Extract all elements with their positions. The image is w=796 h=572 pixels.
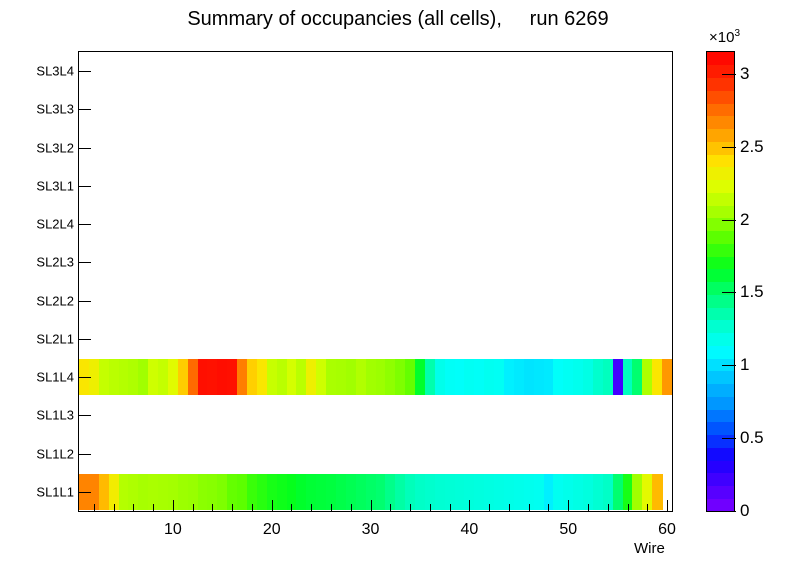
x-axis-tick-minor: [588, 504, 589, 511]
color-bar-tick-label: 0.5: [740, 428, 764, 448]
x-axis-tick-minor: [430, 504, 431, 511]
heatmap-cell: [514, 359, 524, 395]
x-axis-tick-major: [469, 500, 470, 511]
heatmap-cell: [366, 359, 376, 395]
x-axis-tick-minor: [450, 504, 451, 511]
heatmap-cell: [168, 359, 178, 395]
color-bar-segment: [707, 345, 734, 358]
color-bar-segment: [707, 435, 734, 448]
x-axis-tick-minor: [351, 504, 352, 511]
x-axis-tick-major: [272, 500, 273, 511]
color-bar-tick: [722, 438, 736, 439]
y-axis-tick: [78, 492, 91, 493]
x-axis-tick-label: 10: [164, 521, 182, 539]
heatmap-cell: [553, 474, 563, 510]
heatmap-cell: [217, 474, 227, 510]
color-bar-segment: [707, 320, 734, 333]
y-axis-tick: [78, 339, 91, 340]
color-bar-tick-label: 2.5: [740, 137, 764, 157]
color-bar-segment: [707, 486, 734, 499]
color-bar-tick-label: 1: [740, 355, 749, 375]
heatmap-cell: [484, 359, 494, 395]
heatmap-cell: [188, 359, 198, 395]
color-bar-segment: [707, 180, 734, 193]
color-bar-tick: [722, 292, 736, 293]
x-axis-tick-minor: [212, 504, 213, 511]
heatmap-cell: [336, 359, 346, 395]
color-bar-segment: [707, 409, 734, 422]
color-bar-exponent: ×103: [709, 28, 740, 46]
heatmap-cell: [316, 474, 326, 510]
x-axis-tick-minor: [628, 504, 629, 511]
x-axis-tick-minor: [489, 504, 490, 511]
x-axis-tick-major: [568, 500, 569, 511]
heatmap-cell: [573, 359, 583, 395]
x-axis-tick-minor: [153, 504, 154, 511]
color-bar-segment: [707, 78, 734, 91]
heatmap-cell: [128, 359, 138, 395]
color-bar-tick: [722, 74, 736, 75]
heatmap-cell: [514, 474, 524, 510]
color-bar-tick-label: 2: [740, 210, 749, 230]
color-bar-segment: [707, 269, 734, 282]
heatmap-cells: [79, 52, 672, 511]
color-bar-segment: [707, 473, 734, 486]
heatmap-cell: [632, 474, 642, 510]
color-bar-segment: [707, 460, 734, 473]
x-axis-tick-minor: [608, 504, 609, 511]
heatmap-cell: [356, 359, 366, 395]
color-bar-segment: [707, 231, 734, 244]
color-bar-segment: [707, 205, 734, 218]
color-bar-tick: [722, 511, 736, 512]
color-bar-segment: [707, 447, 734, 460]
color-bar-segment: [707, 52, 734, 65]
color-bar-tick: [722, 220, 736, 221]
x-axis-tick-minor: [509, 504, 510, 511]
y-axis-tick: [78, 148, 91, 149]
x-axis-tick-minor: [331, 504, 332, 511]
heatmap-cell: [534, 474, 544, 510]
color-bar-segment: [707, 256, 734, 269]
y-axis-tick: [78, 301, 91, 302]
heatmap-cell: [316, 359, 326, 395]
color-bar-segment: [707, 384, 734, 397]
color-bar-segment: [707, 65, 734, 78]
x-axis-tick-minor: [291, 504, 292, 511]
heatmap-cell: [207, 359, 217, 395]
x-axis-tick-major: [173, 500, 174, 511]
color-bar-segment: [707, 192, 734, 205]
x-axis-tick-minor: [232, 504, 233, 511]
color-bar-segment: [707, 154, 734, 167]
heatmap-cell: [445, 359, 455, 395]
x-axis-title: Wire: [634, 540, 665, 557]
color-bar-segment: [707, 167, 734, 180]
x-axis-tick-minor: [94, 504, 95, 511]
heatmap-cell: [652, 474, 662, 510]
heatmap-cell: [593, 474, 603, 510]
y-axis-tick: [78, 454, 91, 455]
x-axis-tick-minor: [252, 504, 253, 511]
x-axis-tick-label: 30: [362, 521, 380, 539]
y-axis-label-sl3l1: SL3L1: [36, 178, 74, 193]
x-axis-tick-minor: [193, 504, 194, 511]
x-axis-tick-minor: [390, 504, 391, 511]
color-bar-exponent-base: ×10: [709, 29, 734, 46]
y-axis-tick: [78, 186, 91, 187]
color-bar-segment: [707, 333, 734, 346]
y-axis-label-sl3l2: SL3L2: [36, 140, 74, 155]
x-axis-tick-label: 40: [460, 521, 478, 539]
color-bar-segment: [707, 103, 734, 116]
x-axis-tick-minor: [133, 504, 134, 511]
color-bar-segment: [707, 141, 734, 154]
heatmap-cell: [613, 474, 623, 510]
heatmap-cell: [277, 359, 287, 395]
color-bar-segment: [707, 396, 734, 409]
y-axis-label-sl3l4: SL3L4: [36, 64, 74, 79]
heatmap-cell: [652, 359, 662, 395]
heatmap-cell: [593, 359, 603, 395]
heatmap-cell: [385, 359, 395, 395]
y-axis-tick: [78, 224, 91, 225]
y-axis-label-sl1l3: SL1L3: [36, 408, 74, 423]
x-axis-tick-minor: [647, 504, 648, 511]
x-axis-tick-label: 60: [658, 521, 676, 539]
heatmap-cell: [257, 474, 267, 510]
heatmap-cell: [553, 359, 563, 395]
x-axis-tick-minor: [311, 504, 312, 511]
color-bar-segment: [707, 498, 734, 511]
y-axis-tick: [78, 262, 91, 263]
color-bar-tick: [722, 365, 736, 366]
y-axis-tick: [78, 71, 91, 72]
color-bar-tick-label: 3: [740, 64, 749, 84]
heatmap-row: [79, 474, 672, 510]
heatmap-cell: [356, 474, 366, 510]
color-bar-segment: [707, 116, 734, 129]
heatmap-cell: [257, 359, 267, 395]
heatmap-cell: [662, 359, 672, 395]
color-bar-segment: [707, 307, 734, 320]
heatmap-cell: [237, 474, 247, 510]
heatmap-cell: [464, 359, 474, 395]
y-axis-label-sl2l2: SL2L2: [36, 293, 74, 308]
x-axis-tick-major: [667, 500, 668, 511]
y-axis-tick: [78, 109, 91, 110]
y-axis-label-sl2l4: SL2L4: [36, 217, 74, 232]
heatmap-cell: [148, 359, 158, 395]
heatmap-cell: [405, 359, 415, 395]
y-axis: SL3L4SL3L3SL3L2SL3L1SL2L4SL2L3SL2L2SL2L1…: [0, 0, 74, 572]
heatmap-cell: [217, 359, 227, 395]
color-bar: [706, 51, 735, 512]
y-axis-label-sl1l4: SL1L4: [36, 370, 74, 385]
y-axis-label-sl3l3: SL3L3: [36, 102, 74, 117]
heatmap-cell: [109, 359, 119, 395]
x-axis-tick-minor: [548, 504, 549, 511]
heatmap-cell: [425, 359, 435, 395]
root-canvas: Summary of occupancies (all cells), run …: [0, 0, 796, 572]
heatmap-cell: [632, 359, 642, 395]
x-axis-tick-label: 20: [263, 521, 281, 539]
heatmap-cell: [277, 474, 287, 510]
y-axis-label-sl2l1: SL2L1: [36, 331, 74, 346]
y-axis-tick: [78, 415, 91, 416]
color-bar-segment: [707, 422, 734, 435]
heatmap-row: [79, 359, 672, 395]
color-bar-segment: [707, 243, 734, 256]
x-axis-tick-major: [371, 500, 372, 511]
color-bar-segment: [707, 129, 734, 142]
x-axis-tick-minor: [410, 504, 411, 511]
heatmap-cell: [336, 474, 346, 510]
y-axis-tick: [78, 377, 91, 378]
heatmap-cell: [296, 474, 306, 510]
color-bar-tick: [722, 147, 736, 148]
heatmap-cell: [573, 474, 583, 510]
color-bar-tick-label: 0: [740, 501, 749, 521]
color-bar-tick-label: 1.5: [740, 282, 764, 302]
x-axis-tick-minor: [114, 504, 115, 511]
y-axis-label-sl1l2: SL1L2: [36, 446, 74, 461]
chart-title: Summary of occupancies (all cells), run …: [0, 8, 796, 31]
heatmap-cell: [613, 359, 623, 395]
heatmap-cell: [534, 359, 544, 395]
x-axis-tick-minor: [529, 504, 530, 511]
x-axis-tick-label: 50: [559, 521, 577, 539]
heatmap-cell: [296, 359, 306, 395]
color-bar-segment: [707, 371, 734, 384]
heatmap-cell: [237, 359, 247, 395]
y-axis-label-sl2l3: SL2L3: [36, 255, 74, 270]
heatmap-cell: [504, 359, 514, 395]
color-bar-segment: [707, 90, 734, 103]
color-bar-segment: [707, 294, 734, 307]
y-axis-label-sl1l1: SL1L1: [36, 484, 74, 499]
color-bar-exponent-power: 3: [734, 28, 740, 39]
